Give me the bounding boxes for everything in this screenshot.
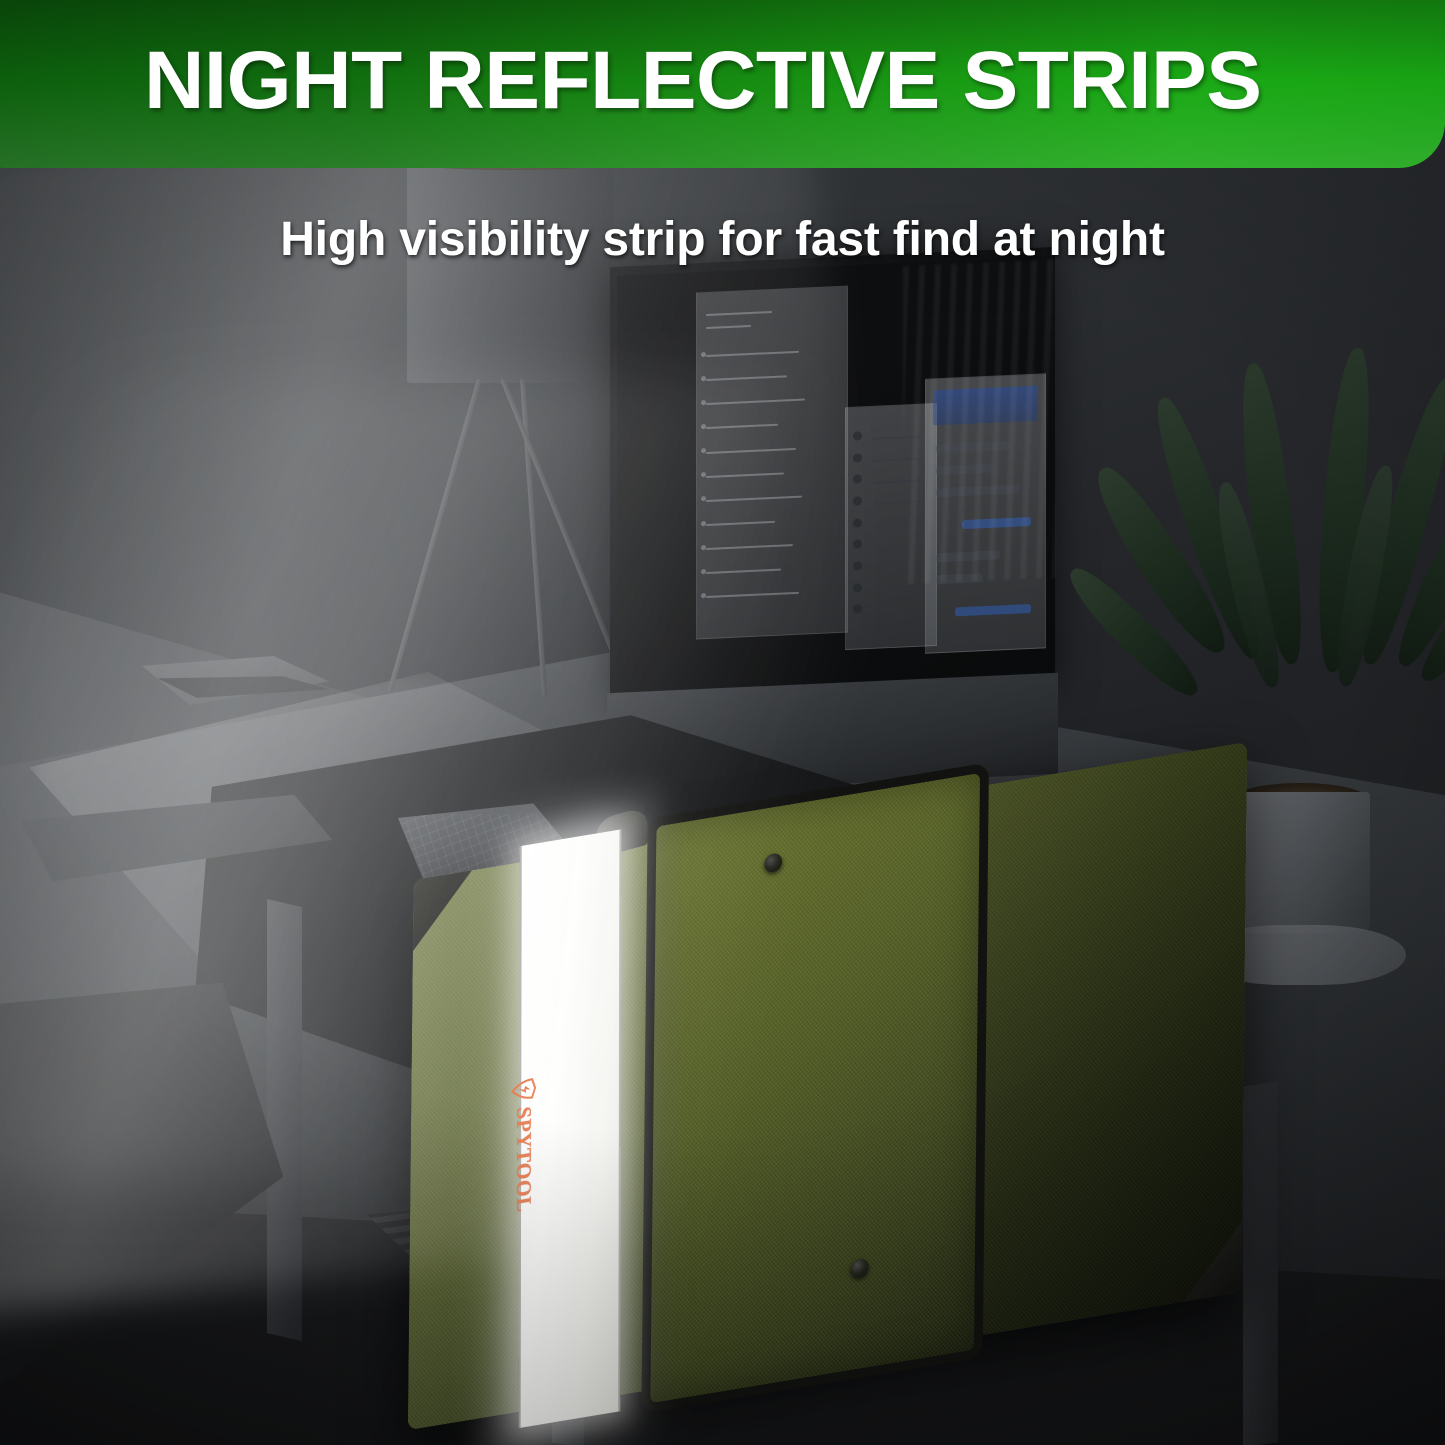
desk-leg (1243, 1081, 1278, 1445)
light-beam-secondary (0, 376, 780, 1185)
subtitle-text: High visibility strip for fast find at n… (0, 212, 1445, 267)
product-marketing-image: SPYTOOL NIGHT REFLECTIVE STRIPS High vis… (0, 0, 1445, 1445)
bag-corner-reinforcement (1183, 1220, 1242, 1301)
snap-button (850, 1257, 868, 1279)
screen-glass-reflection (903, 260, 1055, 585)
headline-title: NIGHT REFLECTIVE STRIPS (144, 40, 1262, 128)
floor-lamp-shade (407, 159, 612, 383)
plant-pot (1231, 792, 1370, 934)
headline-banner: NIGHT REFLECTIVE STRIPS (0, 0, 1445, 168)
